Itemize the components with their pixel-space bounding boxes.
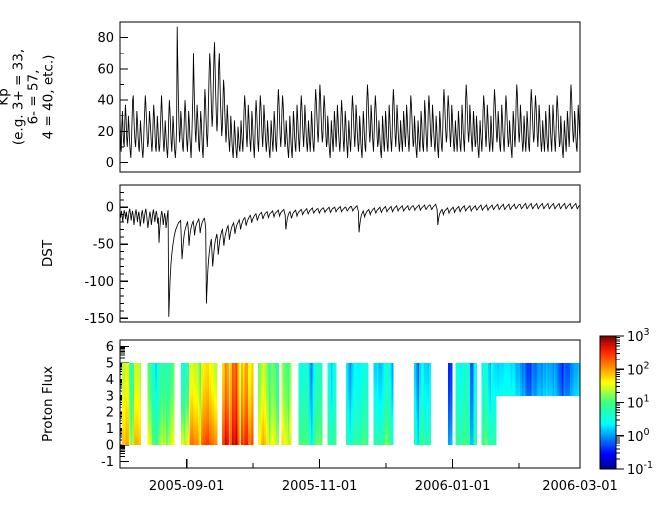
axis-tick-label: 0 xyxy=(106,156,114,171)
flux-axis-title: Proton Flux xyxy=(40,366,56,442)
flux-cell xyxy=(216,443,218,445)
axis-tick-label: -50 xyxy=(93,238,114,253)
flux-cell xyxy=(277,443,279,445)
axis-tick-label: 3 xyxy=(106,389,114,404)
space-weather-figure: 020406080 Kp(e.g. 3+ = 33,6- = 57,4 = 40… xyxy=(0,0,665,523)
axis-tick-label: 5 xyxy=(106,356,114,371)
axis-tick-label: 4 xyxy=(106,373,114,388)
axis-tick-label: 40 xyxy=(97,94,114,109)
flux-cell xyxy=(289,443,291,445)
dst-axis-title: DST xyxy=(40,239,56,267)
flux-cell xyxy=(321,443,323,445)
flux-cell xyxy=(187,443,189,445)
flux-cell xyxy=(334,443,336,445)
flux-cell xyxy=(139,443,141,445)
axis-tick-label: 6 xyxy=(106,340,114,355)
axis-tick-label: 2 xyxy=(106,406,114,421)
axis-tick-label: 0 xyxy=(106,439,114,454)
flux-axis-title-text: Proton Flux xyxy=(40,366,56,442)
kp-axis-title-line: 4 = 40, etc.) xyxy=(41,55,57,140)
figure-canvas: 020406080 Kp(e.g. 3+ = 33,6- = 57,4 = 40… xyxy=(0,0,665,523)
axis-tick-label: 60 xyxy=(97,62,114,77)
axis-tick-label: -150 xyxy=(84,312,114,327)
flux-cell xyxy=(239,443,241,445)
flux-cell xyxy=(173,443,175,445)
flux-cell xyxy=(251,443,253,445)
axis-tick-label: 1 xyxy=(106,422,114,437)
axis-tick-label: -1 xyxy=(101,455,114,470)
axis-tick-label: 80 xyxy=(97,31,114,46)
axis-tick-label: 20 xyxy=(97,125,114,140)
dst-axis-title-text: DST xyxy=(40,239,56,267)
flux-cell xyxy=(228,443,230,445)
kp-axis-title-line: (e.g. 3+ = 33, xyxy=(11,49,27,145)
axis-tick-label: -100 xyxy=(84,275,114,290)
axis-tick-label: 0 xyxy=(106,201,114,216)
kp-axis-title-line: 6- = 57, xyxy=(26,70,42,125)
